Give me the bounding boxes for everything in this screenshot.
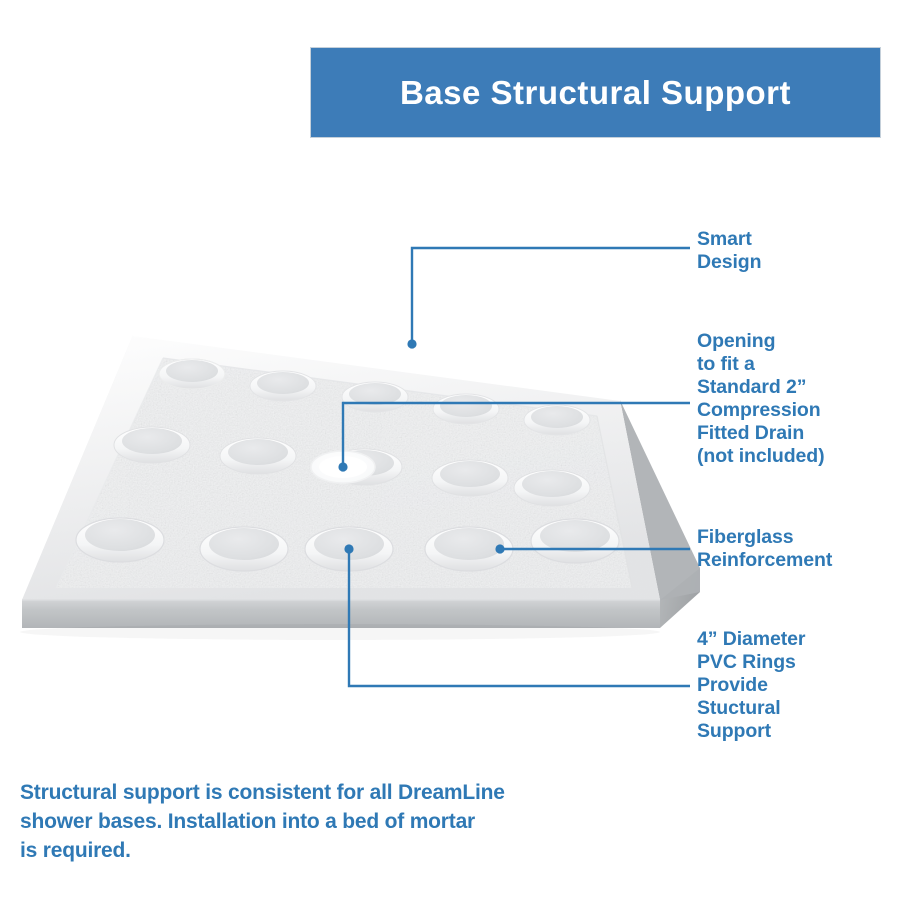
title-banner: Base Structural Support (311, 48, 880, 137)
annotation-smart-design: Smart Design (697, 228, 761, 274)
pvc-ring (432, 460, 508, 496)
drain-opening (311, 451, 375, 483)
pvc-ring (514, 470, 590, 506)
base-front-face (22, 600, 660, 628)
pvc-ring (531, 519, 619, 563)
pvc-ring (159, 359, 225, 389)
pvc-ring (433, 394, 499, 424)
pvc-ring (76, 518, 164, 562)
pvc-ring (425, 527, 513, 571)
shower-base-illustration (0, 300, 700, 660)
annotation-drain-opening: Opening to fit a Standard 2” Compression… (697, 330, 825, 468)
annotation-fiberglass-reinforcement: Fiberglass Reinforcement (697, 526, 832, 572)
pvc-ring (114, 427, 190, 463)
pvc-ring (200, 527, 288, 571)
pvc-ring (524, 405, 590, 435)
pvc-ring (342, 382, 408, 412)
pvc-ring (220, 438, 296, 474)
infographic-page: Base Structural Support (0, 0, 900, 900)
footnote-text: Structural support is consistent for all… (20, 778, 580, 865)
annotation-pvc-rings: 4” Diameter PVC Rings Provide Stuctural … (697, 628, 805, 743)
page-title: Base Structural Support (400, 74, 791, 112)
pvc-ring (250, 371, 316, 401)
pvc-ring (305, 527, 393, 571)
